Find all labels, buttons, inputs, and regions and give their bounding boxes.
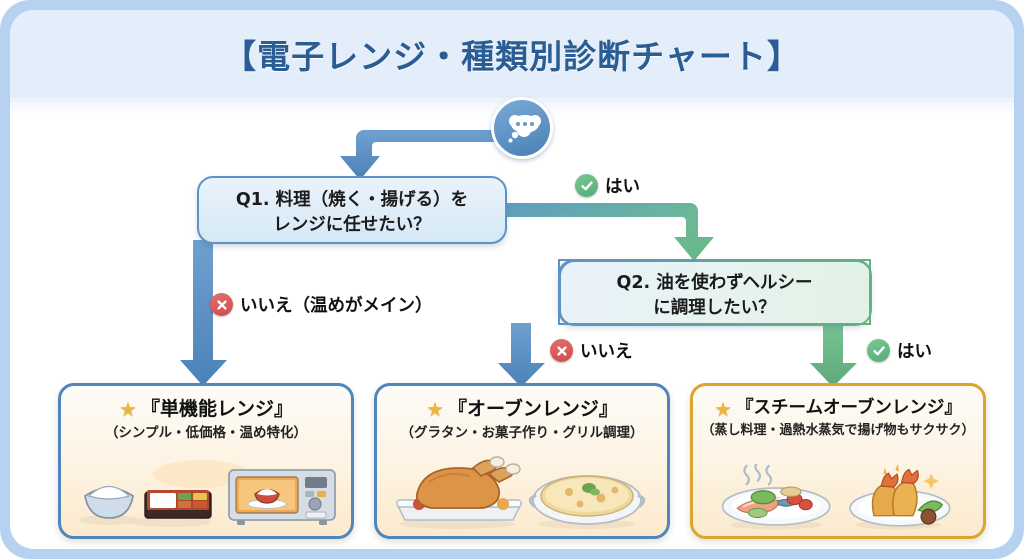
card1-subtitle: （シンプル・低価格・温め特化） xyxy=(61,424,351,442)
question-box-q2[interactable]: Q2. 油を使わずヘルシー に調理したい？ xyxy=(558,259,871,325)
card2-title-row: ★ 『オーブンレンジ』 xyxy=(377,398,667,421)
card2-illustration xyxy=(377,452,667,530)
x-circle-icon xyxy=(550,339,573,362)
card1-title-row: ★ 『単機能レンジ』 xyxy=(61,398,351,421)
connector-q1-yes-to-q2 xyxy=(504,197,729,263)
connector-q2-yes-to-card3 xyxy=(810,323,864,389)
chart-frame: 【電子レンジ・種類別診断チャート】 Q1. 料理（焼く・揚げる）を レンジに任せ… xyxy=(0,0,1024,559)
card3-illustration xyxy=(693,464,983,536)
check-circle-icon xyxy=(867,339,890,362)
result-card-steam-oven-range[interactable]: ★ 『スチームオーブンレンジ』 （蒸し料理・過熱水蒸気で揚げ物もサクサク） xyxy=(690,383,986,539)
result-card-oven-range[interactable]: ★ 『オーブンレンジ』 （グラタン・お菓子作り・グリル調理） xyxy=(374,383,670,539)
result-card-single-function[interactable]: ★ 『単機能レンジ』 （シンプル・低価格・温め特化） xyxy=(58,383,354,539)
card2-title: 『オーブンレンジ』 xyxy=(448,398,618,421)
card3-title: 『スチームオーブンレンジ』 xyxy=(736,398,962,419)
label-q1-yes: はい xyxy=(575,173,640,198)
label-q2-no-text: いいえ xyxy=(580,338,633,363)
card3-title-row: ★ 『スチームオーブンレンジ』 xyxy=(693,398,983,419)
q1-line1: Q1. 料理（焼く・揚げる）を xyxy=(215,188,489,213)
card3-subtitle: （蒸し料理・過熱水蒸気で揚げ物もサクサク） xyxy=(693,422,983,440)
label-q1-no-text: いいえ（温めがメイン） xyxy=(240,292,433,317)
q2-line2: に調理したい？ xyxy=(576,296,853,321)
star-icon: ★ xyxy=(426,399,444,419)
card1-title: 『単機能レンジ』 xyxy=(141,398,293,421)
card1-illustration xyxy=(61,452,351,530)
q1-line2: レンジに任せたい？ xyxy=(215,213,489,238)
q2-line1: Q2. 油を使わずヘルシー xyxy=(576,271,853,296)
star-icon: ★ xyxy=(714,399,732,419)
question-box-q1[interactable]: Q1. 料理（焼く・揚げる）を レンジに任せたい？ xyxy=(197,176,507,244)
x-circle-icon xyxy=(210,293,233,316)
label-q1-yes-text: はい xyxy=(605,173,640,198)
label-q2-no: いいえ xyxy=(550,338,633,363)
label-q2-yes-text: はい xyxy=(897,338,932,363)
label-q2-yes: はい xyxy=(867,338,932,363)
chart-panel: 【電子レンジ・種類別診断チャート】 Q1. 料理（焼く・揚げる）を レンジに任せ… xyxy=(10,10,1014,549)
check-circle-icon xyxy=(575,174,598,197)
star-icon: ★ xyxy=(119,399,137,419)
label-q1-no: いいえ（温めがメイン） xyxy=(210,292,433,317)
card2-subtitle: （グラタン・お菓子作り・グリル調理） xyxy=(377,424,667,442)
connector-q2-no-to-card2 xyxy=(498,323,552,389)
page-title: 【電子レンジ・種類別診断チャート】 xyxy=(10,30,1014,78)
thought-bubble-icon xyxy=(491,97,553,159)
